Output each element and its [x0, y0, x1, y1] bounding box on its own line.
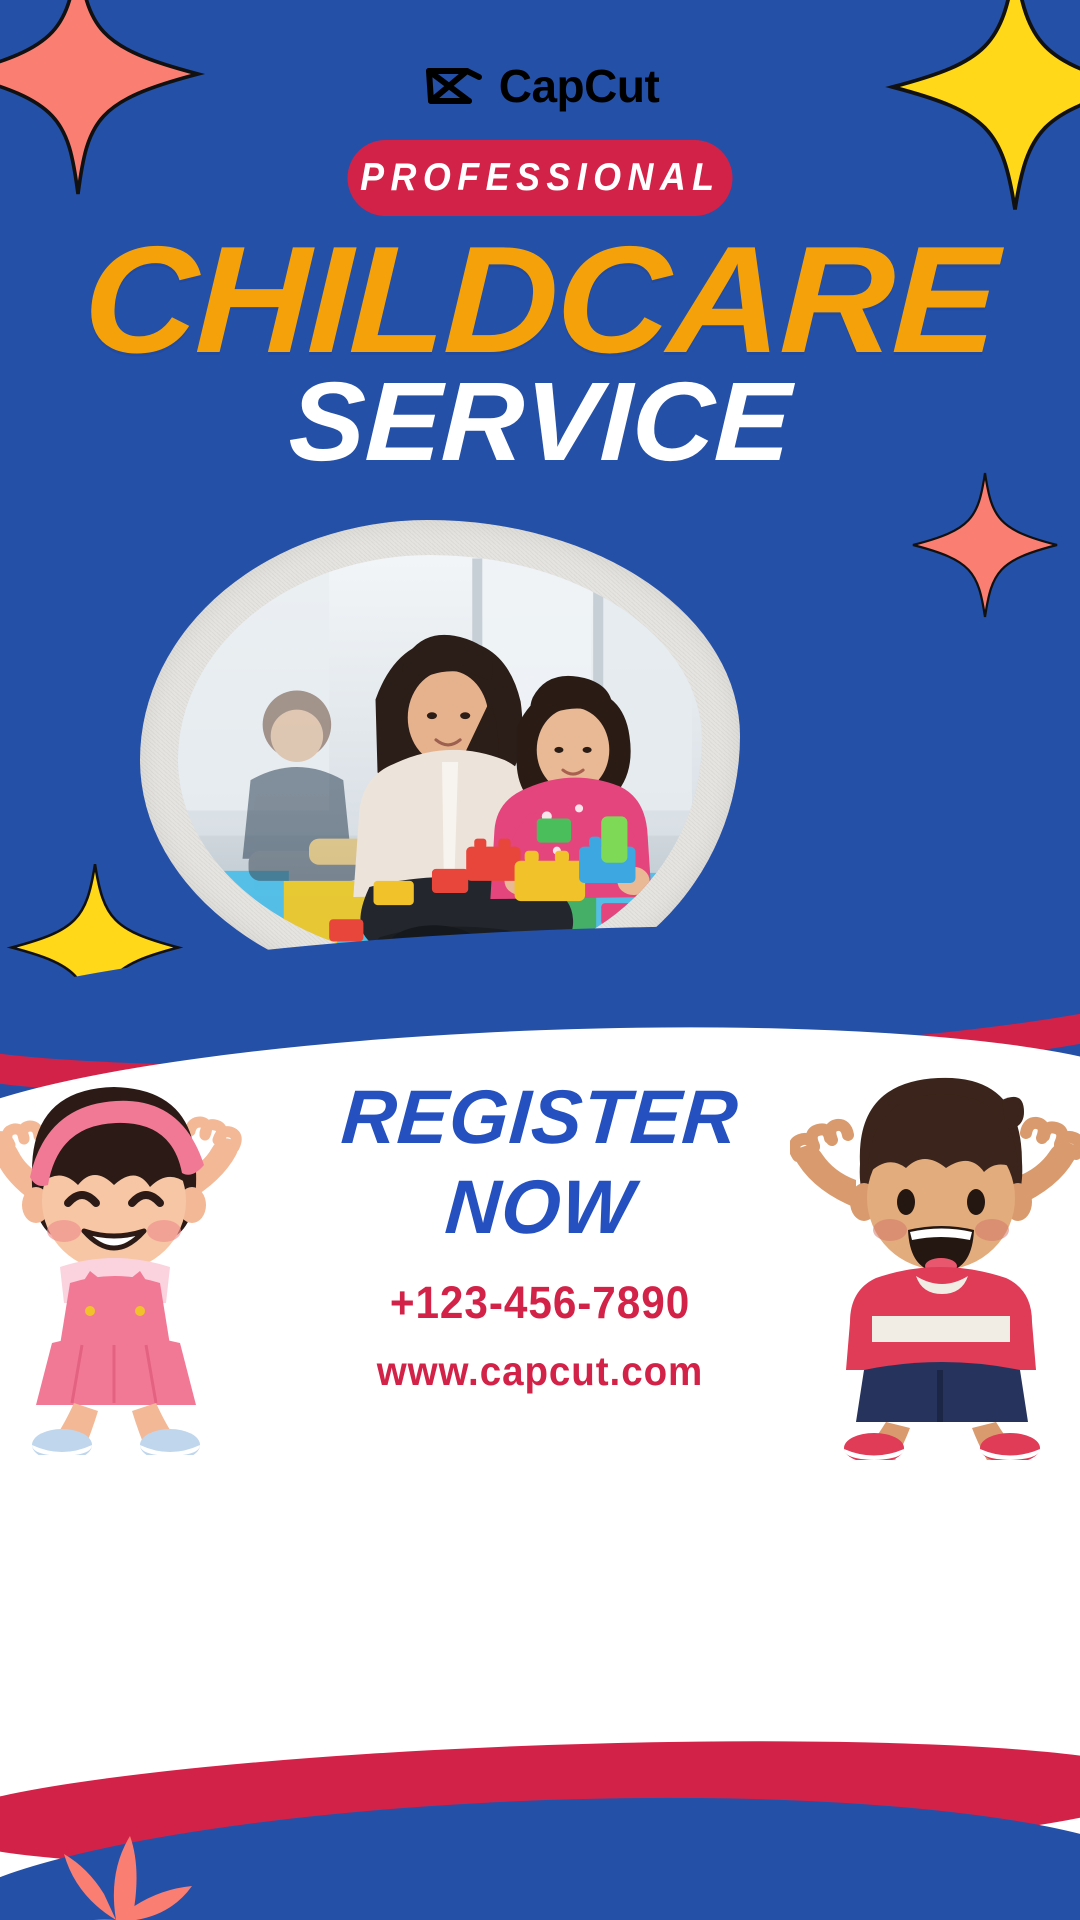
jumping-girl-illustration — [0, 1055, 276, 1455]
headline-service: SERVICE — [0, 366, 1080, 478]
capcut-logo-icon — [421, 62, 485, 110]
professional-badge-label: PROFESSIONAL — [360, 156, 720, 200]
coral-leaf-icon — [20, 1790, 210, 1920]
poster-canvas: CapCut PROFESSIONAL CHILDCARE SERVICE — [0, 0, 1080, 1920]
jumping-boy-illustration — [790, 1040, 1080, 1460]
professional-badge: PROFESSIONAL — [348, 140, 733, 216]
headline-childcare: CHILDCARE — [0, 228, 1080, 372]
four-point-star-icon — [910, 470, 1060, 620]
page-title: CHILDCARE SERVICE — [0, 228, 1080, 478]
brand-logo: CapCut — [0, 62, 1080, 110]
brand-logo-text: CapCut — [499, 63, 660, 109]
